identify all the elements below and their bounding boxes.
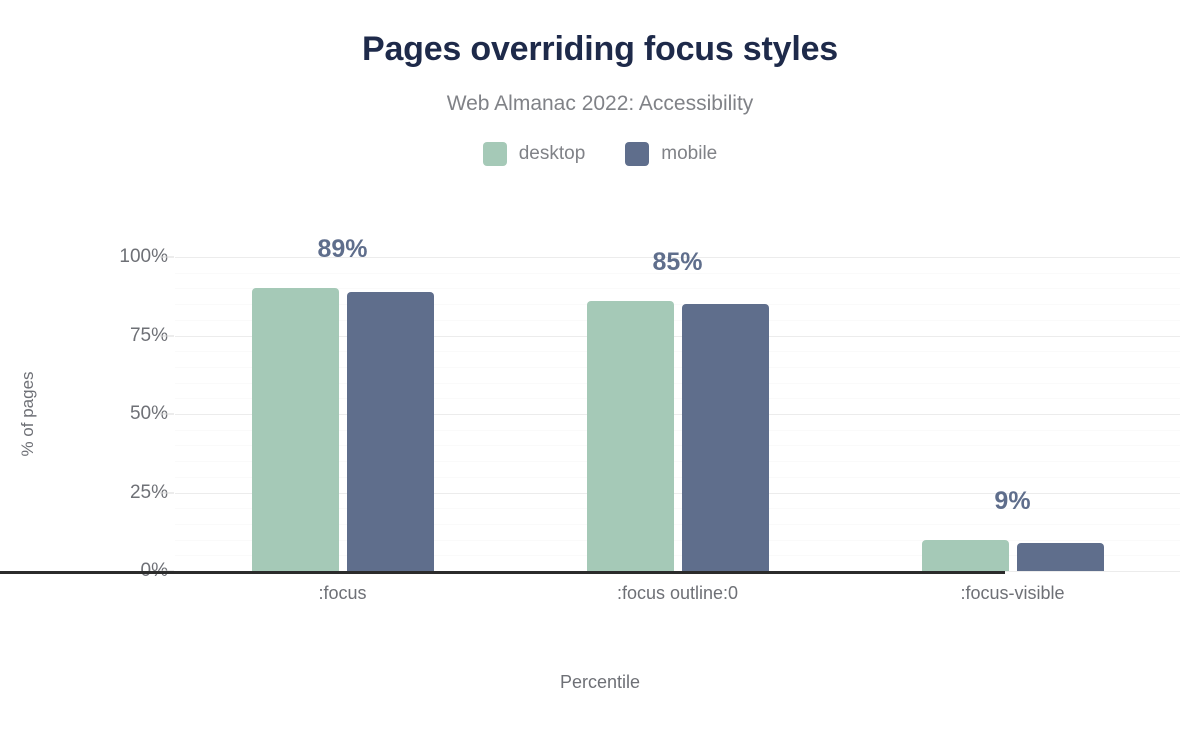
x-axis-title: Percentile — [0, 672, 1200, 693]
x-axis-category-label: :focus — [318, 583, 366, 604]
bar-mobile-1[interactable] — [682, 304, 769, 571]
bar-mobile-2[interactable] — [1017, 543, 1104, 571]
bar-value-label: 9% — [994, 487, 1030, 516]
x-axis-category-label: :focus-visible — [960, 583, 1064, 604]
plot-area: :focus89%:focus outline:085%:focus-visib… — [0, 0, 1200, 742]
bar-mobile-0[interactable] — [347, 292, 434, 571]
chart-container: Pages overriding focus styles Web Almana… — [0, 0, 1200, 742]
bar-desktop-1[interactable] — [587, 301, 674, 571]
x-axis-category-label: :focus outline:0 — [617, 583, 738, 604]
bar-value-label: 85% — [652, 248, 702, 277]
bar-value-label: 89% — [317, 235, 367, 264]
bar-desktop-0[interactable] — [252, 288, 339, 571]
bar-desktop-2[interactable] — [922, 540, 1009, 571]
